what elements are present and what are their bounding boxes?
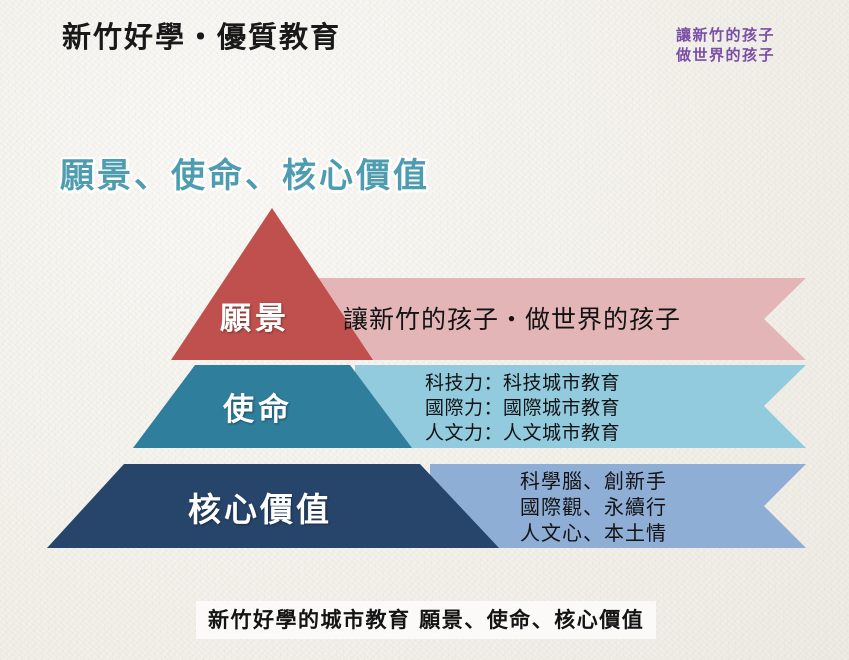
tier-body-core-value: 科學腦、創新手 國際觀、永續行 人文心、本土情	[520, 468, 667, 546]
tier-body-vision: 讓新竹的孩子・做世界的孩子	[343, 300, 681, 336]
tier-body-vision-line-1: 讓新竹的孩子・做世界的孩子	[343, 300, 681, 336]
footer-caption: 新竹好學的城市教育 願景、使命、核心價值	[196, 601, 656, 639]
tier-body-core-line-3: 人文心、本土情	[520, 520, 667, 546]
slide-stage: 新竹好學・優質教育 讓新竹的孩子 做世界的孩子 願景、使命、核心價值 願景 使命…	[0, 0, 849, 660]
pyramid-diagram: 願景 使命 核心價值 讓新竹的孩子・做世界的孩子 科技力：科技城市教育 國際力：…	[0, 0, 849, 660]
tier-label-vision: 願景	[185, 293, 325, 338]
tier-label-core-value: 核心價值	[150, 483, 370, 531]
tier-body-core-line-1: 科學腦、創新手	[520, 468, 667, 494]
tier-body-mission-line-2: 國際力：國際城市教育	[425, 396, 620, 421]
tier-body-mission: 科技力：科技城市教育 國際力：國際城市教育 人文力：人文城市教育	[425, 371, 620, 446]
tier-body-core-line-2: 國際觀、永續行	[520, 494, 667, 520]
tier-label-mission: 使命	[178, 384, 338, 429]
tier-body-mission-line-3: 人文力：人文城市教育	[425, 421, 620, 446]
tier-body-mission-line-1: 科技力：科技城市教育	[425, 371, 620, 396]
